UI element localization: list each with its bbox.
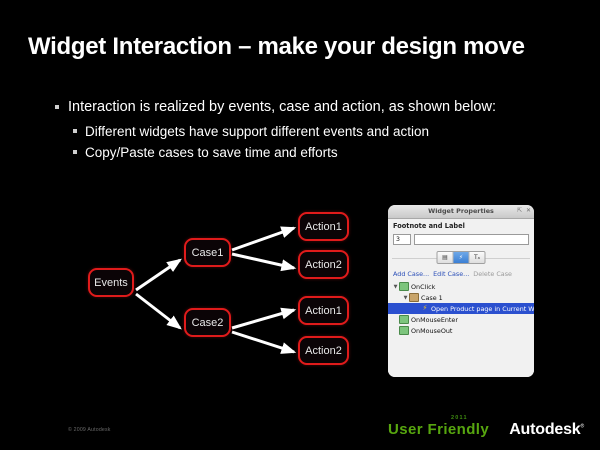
- tree-row-case1[interactable]: ▼ Case 1: [388, 292, 534, 303]
- user-friendly-logo: User Friendly 2011: [388, 421, 489, 438]
- diagram-node-events: Events: [88, 268, 134, 297]
- maximize-icon[interactable]: ⇱: [517, 208, 522, 214]
- bullet-level1-text: Interaction is realized by events, case …: [68, 99, 496, 115]
- flow-diagram: Events Case1 Case2 Action1 Action2 Actio…: [80, 200, 370, 380]
- panel-body: Footnote and Label 3 ▤ ⚡ Tₐ Add Case... …: [388, 219, 534, 377]
- bullet-marker-icon: [73, 150, 77, 154]
- label-input[interactable]: [414, 234, 529, 245]
- interaction-button[interactable]: ⚡: [454, 252, 470, 263]
- event-tree: ▼ OnClick ▼ Case 1 ⚡ Open Product page i…: [388, 281, 534, 336]
- event-icon: [399, 326, 409, 335]
- panel-window-controls: ⇱ ✕: [517, 208, 531, 214]
- slide-title: Widget Interaction – make your design mo…: [28, 33, 568, 61]
- tree-row-label: Case 1: [421, 294, 443, 302]
- diagram-node-case1-action2: Action2: [298, 250, 349, 279]
- diagram-node-case2-action1: Action1: [298, 296, 349, 325]
- event-icon: [399, 282, 409, 291]
- diagram-node-case1: Case1: [184, 238, 231, 267]
- case-action-links: Add Case... Edit Case... Delete Case: [393, 270, 512, 278]
- widget-properties-panel: Widget Properties ⇱ ✕ Footnote and Label…: [388, 205, 534, 377]
- case-icon: [409, 293, 419, 302]
- autodesk-logo: Autodesk®: [509, 421, 584, 439]
- section-label: Footnote and Label: [393, 222, 465, 230]
- tree-row-onmouseout[interactable]: OnMouseOut: [388, 325, 534, 336]
- diagram-node-case1-action1: Action1: [298, 212, 349, 241]
- footnote-label-fields: 3: [393, 234, 529, 245]
- tree-row-open-product-page[interactable]: ⚡ Open Product page in Current W: [388, 303, 534, 314]
- tree-row-label: Open Product page in Current W: [431, 305, 534, 313]
- autodesk-logo-text: Autodesk: [509, 421, 580, 438]
- bullet-sublist: Different widgets have support different…: [73, 121, 525, 163]
- footnote-input[interactable]: 3: [393, 234, 411, 245]
- tree-row-label: OnMouseOut: [411, 327, 452, 335]
- text-button[interactable]: Tₐ: [470, 252, 485, 263]
- add-case-link[interactable]: Add Case...: [393, 270, 429, 278]
- tree-row-label: OnMouseEnter: [411, 316, 458, 324]
- bullet-level1: Interaction is realized by events, case …: [55, 98, 525, 117]
- close-icon[interactable]: ✕: [526, 208, 531, 214]
- bullet-marker-icon: [55, 105, 59, 109]
- panel-toolbar: ▤ ⚡ Tₐ: [388, 250, 534, 266]
- diagram-node-case2-action2: Action2: [298, 336, 349, 365]
- tree-row-onmouseenter[interactable]: OnMouseEnter: [388, 314, 534, 325]
- action-icon: ⚡: [421, 305, 429, 312]
- trademark-icon: ®: [581, 424, 584, 430]
- user-friendly-logo-year: 2011: [451, 415, 468, 421]
- image-button[interactable]: ▤: [438, 252, 454, 263]
- user-friendly-logo-text: User Friendly: [388, 421, 489, 438]
- copyright-text: © 2009 Autodesk: [68, 427, 111, 433]
- bullet-level2: Copy/Paste cases to save time and effort…: [73, 142, 525, 163]
- bullet-marker-icon: [73, 129, 77, 133]
- panel-title: Widget Properties: [388, 207, 534, 215]
- tree-row-label: OnClick: [411, 283, 435, 291]
- bullet-list: Interaction is realized by events, case …: [55, 98, 525, 163]
- tree-row-onclick[interactable]: ▼ OnClick: [388, 281, 534, 292]
- edit-case-link[interactable]: Edit Case...: [433, 270, 469, 278]
- bullet-level2-text: Copy/Paste cases to save time and effort…: [85, 145, 338, 160]
- toolbar-button-group: ▤ ⚡ Tₐ: [437, 251, 486, 264]
- panel-titlebar[interactable]: Widget Properties ⇱ ✕: [388, 205, 534, 219]
- chevron-down-icon[interactable]: ▼: [392, 284, 399, 290]
- bullet-level2: Different widgets have support different…: [73, 121, 525, 142]
- delete-case-link: Delete Case: [473, 270, 512, 278]
- slide: Widget Interaction – make your design mo…: [0, 0, 600, 450]
- diagram-node-case2: Case2: [184, 308, 231, 337]
- bullet-level2-text: Different widgets have support different…: [85, 124, 429, 139]
- chevron-down-icon[interactable]: ▼: [402, 295, 409, 301]
- event-icon: [399, 315, 409, 324]
